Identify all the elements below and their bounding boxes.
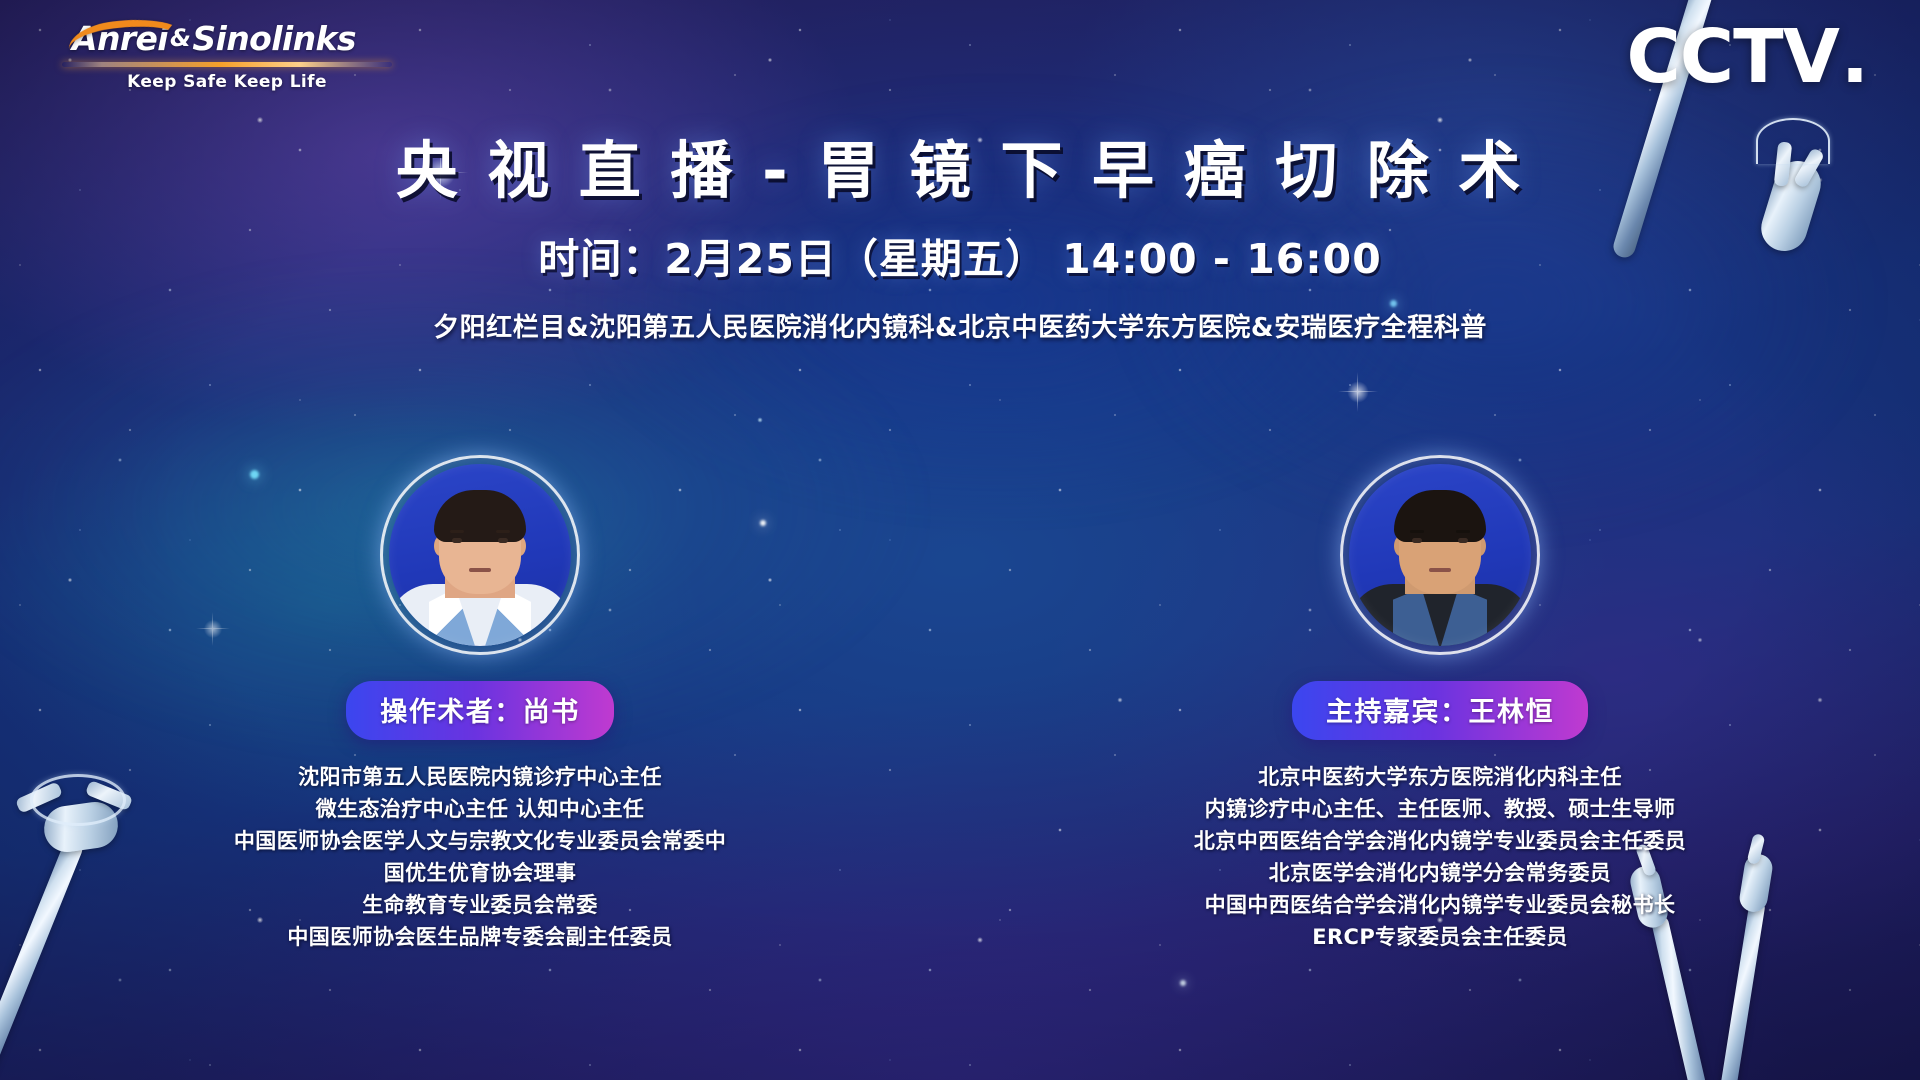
speaker-badge-operator: 操作术者：尚书 xyxy=(346,681,614,740)
cctv-logo-text: CCTV xyxy=(1627,14,1839,100)
avatar xyxy=(1340,455,1540,655)
brand-wordmark: Anrei & Sinolinks xyxy=(62,16,392,60)
brand-tagline: Keep Safe Keep Life xyxy=(62,72,392,92)
credential-item: 国优生优育协会理事 xyxy=(234,858,726,890)
brand-name-secondary: Sinolinks xyxy=(192,19,356,58)
credentials-list-host: 北京中医药大学东方医院消化内科主任 内镜诊疗中心主任、主任医师、教授、硕士生导师… xyxy=(1194,762,1686,953)
speaker-card-host: 主持嘉宾：王林恒 北京中医药大学东方医院消化内科主任 内镜诊疗中心主任、主任医师… xyxy=(960,455,1920,953)
title-block: 央 视 直 播 - 胃 镜 下 早 癌 切 除 术 时间：2月25日（星期五） … xyxy=(0,136,1920,344)
avatar xyxy=(380,455,580,655)
organizers-line: 夕阳红栏目&沈阳第五人民医院消化内镜科&北京中医药大学东方医院&安瑞医疗全程科普 xyxy=(0,307,1920,344)
avatar-ring xyxy=(380,455,580,655)
avatar-ring xyxy=(1340,455,1540,655)
credential-item: 北京中西医结合学会消化内镜学专业委员会主任委员 xyxy=(1194,826,1686,858)
credential-item: 微生态治疗中心主任 认知中心主任 xyxy=(234,794,726,826)
credential-item: ERCP专家委员会主任委员 xyxy=(1194,922,1686,954)
cctv-logo-dot: . xyxy=(1841,20,1868,94)
credential-item: 中国医师协会医生品牌专委会副主任委员 xyxy=(234,922,726,954)
speakers-section: 操作术者：尚书 沈阳市第五人民医院内镜诊疗中心主任 微生态治疗中心主任 认知中心… xyxy=(0,455,1920,953)
page-title: 央 视 直 播 - 胃 镜 下 早 癌 切 除 术 xyxy=(0,136,1920,205)
speaker-badge-host: 主持嘉宾：王林恒 xyxy=(1292,681,1588,740)
event-time: 时间：2月25日（星期五） 14:00 - 16:00 xyxy=(0,225,1920,285)
credential-item: 中国医师协会医学人文与宗教文化专业委员会常委中 xyxy=(234,826,726,858)
brand-logo: Anrei & Sinolinks Keep Safe Keep Life xyxy=(62,16,392,92)
poster-canvas: Anrei & Sinolinks Keep Safe Keep Life CC… xyxy=(0,0,1920,1080)
cctv-logo: CCTV . xyxy=(1627,14,1869,100)
credentials-list-operator: 沈阳市第五人民医院内镜诊疗中心主任 微生态治疗中心主任 认知中心主任 中国医师协… xyxy=(234,762,726,953)
credential-item: 北京医学会消化内镜学分会常务委员 xyxy=(1194,858,1686,890)
credential-item: 内镜诊疗中心主任、主任医师、教授、硕士生导师 xyxy=(1194,794,1686,826)
credential-item: 生命教育专业委员会常委 xyxy=(234,890,726,922)
credential-item: 北京中医药大学东方医院消化内科主任 xyxy=(1194,762,1686,794)
credential-item: 沈阳市第五人民医院内镜诊疗中心主任 xyxy=(234,762,726,794)
speaker-card-operator: 操作术者：尚书 沈阳市第五人民医院内镜诊疗中心主任 微生态治疗中心主任 认知中心… xyxy=(0,455,960,953)
credential-item: 中国中西医结合学会消化内镜学专业委员会秘书长 xyxy=(1194,890,1686,922)
brand-divider-rule xyxy=(62,62,392,67)
